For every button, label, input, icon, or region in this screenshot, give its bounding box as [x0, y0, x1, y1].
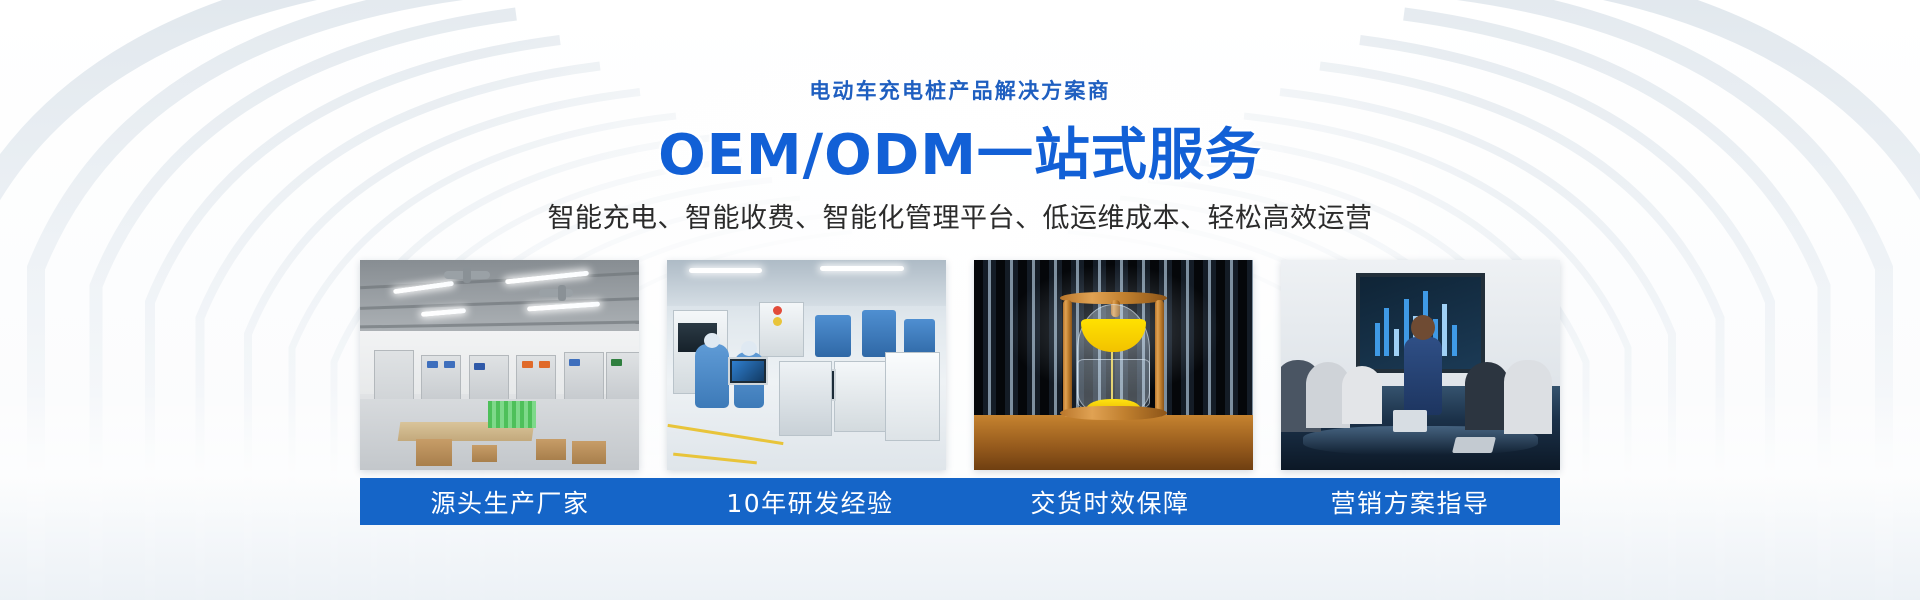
- feature-label-delivery-guarantee[interactable]: 交货时效保障: [960, 478, 1260, 525]
- promo-banner: 电动车充电桩产品解决方案商 OEM/ODM一站式服务 智能充电、智能收费、智能化…: [0, 0, 1920, 600]
- feature-label-marketing-guidance[interactable]: 营销方案指导: [1260, 478, 1560, 525]
- feature-photo-row: [360, 260, 1560, 470]
- banner-tagline: 电动车充电桩产品解决方案商: [0, 75, 1920, 105]
- banner-description: 智能充电、智能收费、智能化管理平台、低运维成本、轻松高效运营: [0, 196, 1920, 235]
- photo-business-meeting[interactable]: [1281, 260, 1560, 470]
- feature-label-source-manufacturer[interactable]: 源头生产厂家: [360, 478, 660, 525]
- photo-factory-warehouse[interactable]: [360, 260, 639, 470]
- banner-main-title: OEM/ODM一站式服务: [0, 110, 1920, 191]
- feature-label-bar: 源头生产厂家 10年研发经验 交货时效保障 营销方案指导: [360, 478, 1560, 525]
- photo-hourglass[interactable]: [974, 260, 1253, 470]
- photo-cleanroom-production-line[interactable]: [667, 260, 946, 470]
- feature-label-rd-experience[interactable]: 10年研发经验: [660, 478, 960, 525]
